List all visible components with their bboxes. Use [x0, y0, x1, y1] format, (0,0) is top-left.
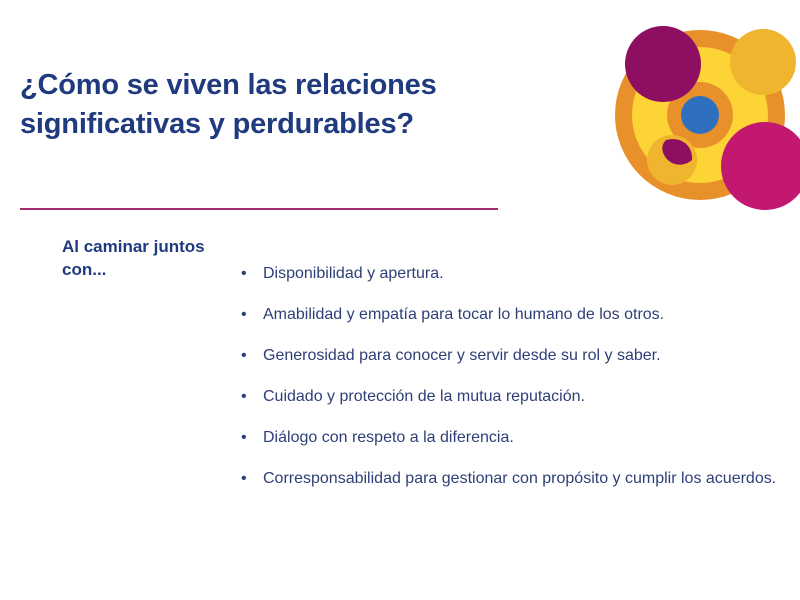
- list-item: • Cuidado y protección de la mutua reput…: [238, 387, 794, 407]
- bullet-dot-icon: •: [241, 428, 247, 448]
- top-right-gold-circle: [730, 29, 796, 95]
- title-block: ¿Cómo se viven las relaciones significat…: [20, 66, 510, 143]
- bullet-dot-icon: •: [241, 305, 247, 325]
- bullet-dot-icon: •: [241, 469, 247, 489]
- list-item: • Diálogo con respeto a la diferencia.: [238, 428, 794, 448]
- list-item-text: Diálogo con respeto a la diferencia.: [263, 428, 794, 448]
- list-item-text: Disponibilidad y apertura.: [263, 264, 794, 284]
- bullet-list: • Disponibilidad y apertura. • Amabilida…: [238, 264, 794, 489]
- bottom-right-magenta-circle: [721, 122, 800, 210]
- list-item-text: Corresponsabilidad para gestionar con pr…: [263, 469, 794, 489]
- inner-orange-ring: [667, 82, 733, 148]
- outer-orange-ring: [615, 30, 785, 200]
- slide-canvas: ¿Cómo se viven las relaciones significat…: [0, 0, 800, 600]
- blue-center-dot: [681, 96, 719, 134]
- bottom-left-gold-circle: [647, 135, 697, 185]
- list-item: • Amabilidad y empatía para tocar lo hum…: [238, 305, 794, 325]
- list-item-text: Amabilidad y empatía para tocar lo human…: [263, 305, 794, 325]
- side-label: Al caminar juntos con...: [62, 236, 232, 282]
- bullet-dot-icon: •: [241, 346, 247, 366]
- top-left-purple-circle: [625, 26, 701, 102]
- title-divider-rule: [20, 208, 498, 210]
- bullet-dot-icon: •: [241, 264, 247, 284]
- list-item: • Corresponsabilidad para gestionar con …: [238, 469, 794, 489]
- list-item: • Disponibilidad y apertura.: [238, 264, 794, 284]
- page-title: ¿Cómo se viven las relaciones significat…: [20, 66, 510, 143]
- list-item: • Generosidad para conocer y servir desd…: [238, 346, 794, 366]
- list-item-text: Cuidado y protección de la mutua reputac…: [263, 387, 794, 407]
- list-item-text: Generosidad para conocer y servir desde …: [263, 346, 794, 366]
- concentric-circles-ornament: [600, 0, 800, 210]
- yellow-ring: [632, 47, 768, 183]
- small-purple-lens: [662, 139, 692, 165]
- bullet-dot-icon: •: [241, 387, 247, 407]
